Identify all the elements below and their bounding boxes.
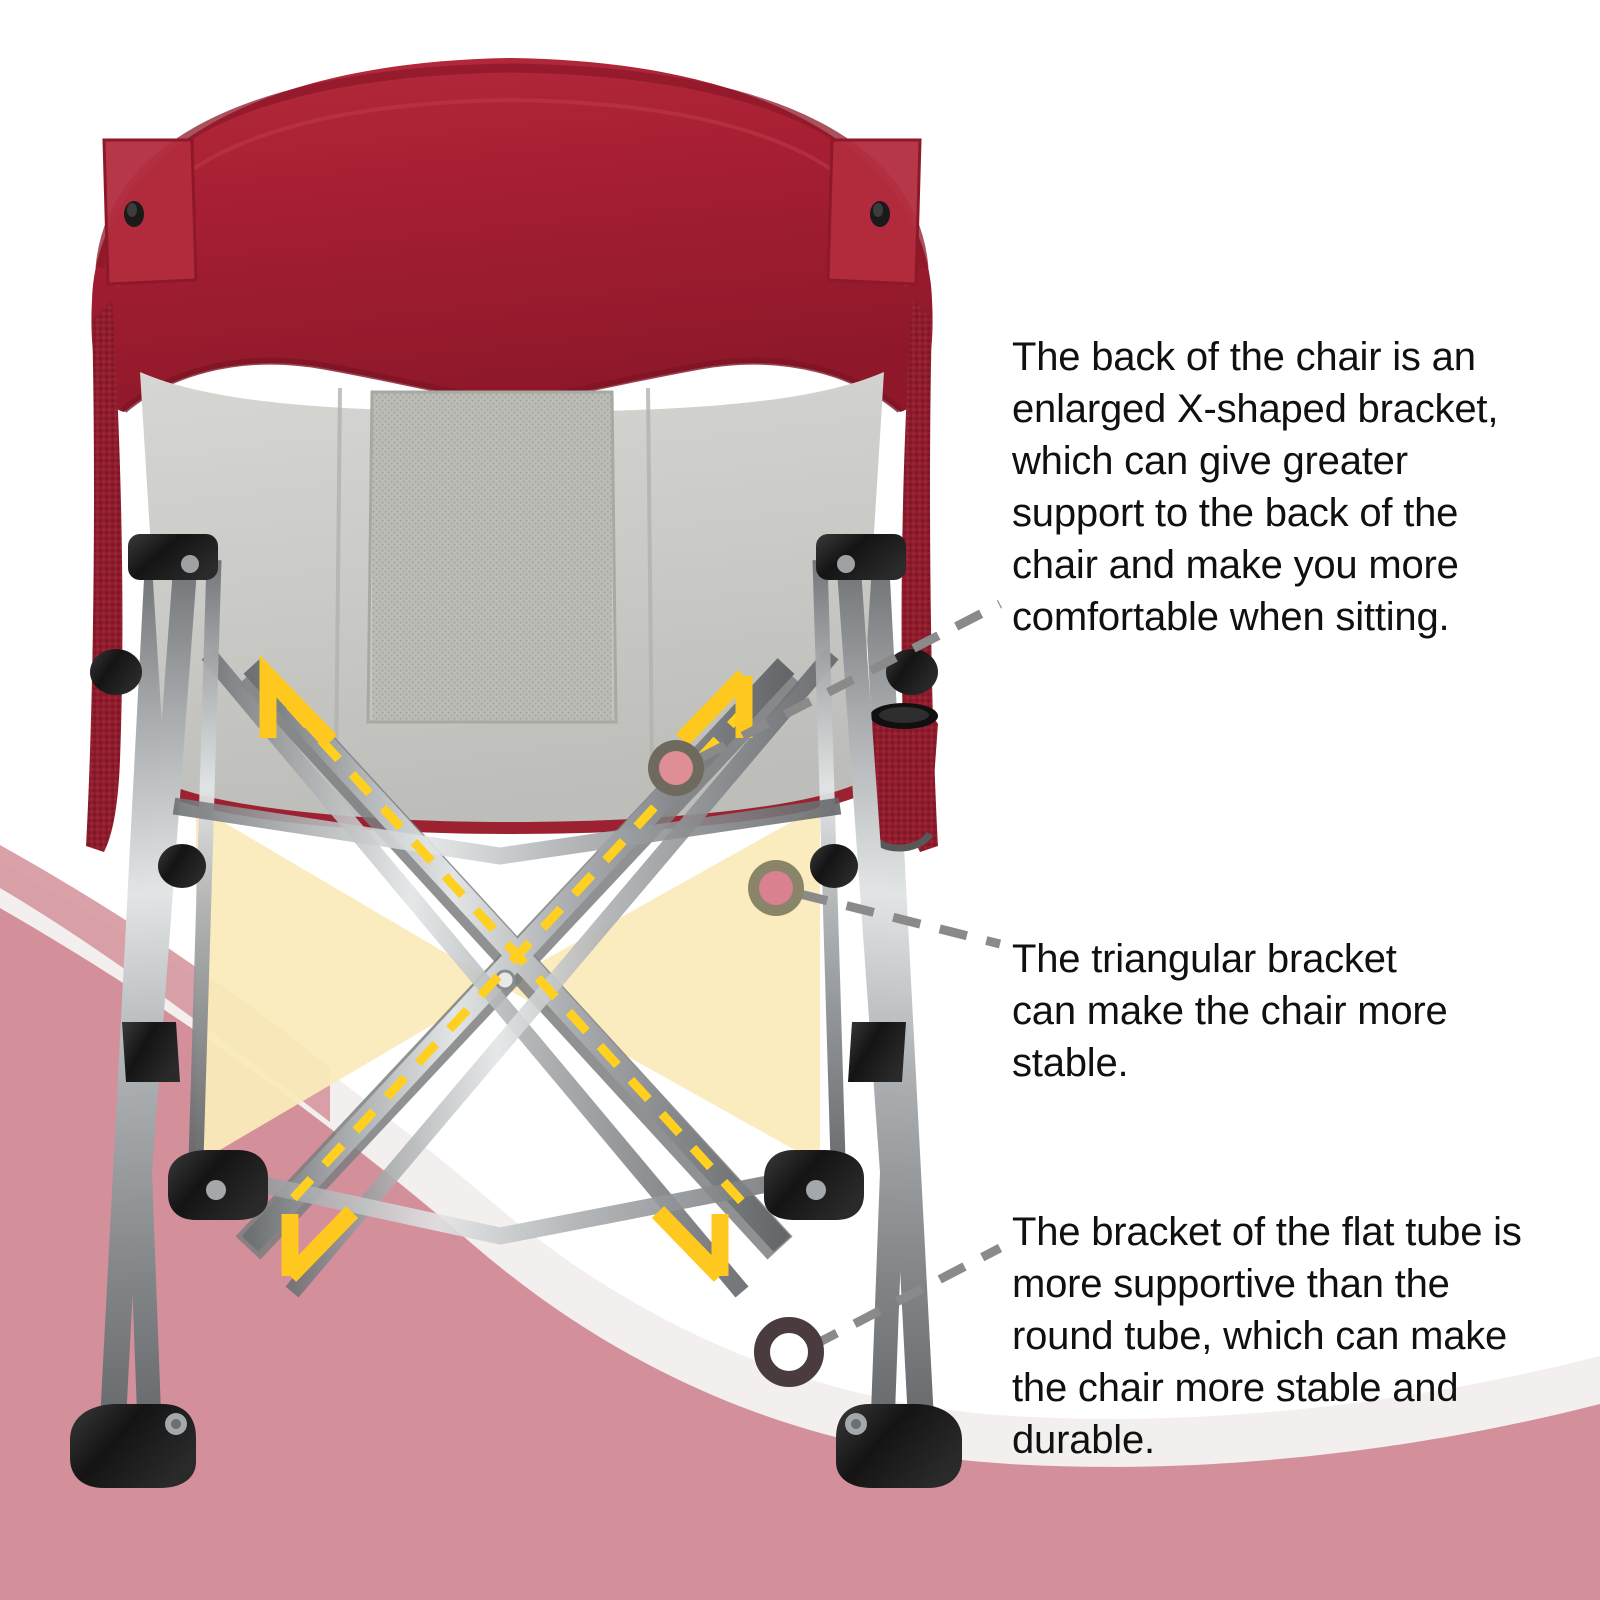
- callout-flat-tube-text: The bracket of the flat tube is more sup…: [1012, 1206, 1532, 1466]
- infographic-canvas: The back of the chair is an enlarged X-s…: [0, 0, 1600, 1600]
- marker-flat-tube: [762, 1325, 816, 1379]
- marker-back-bracket: [648, 740, 704, 796]
- leader-line-3: [812, 1248, 1000, 1346]
- marker-triangular-bracket: [748, 860, 804, 916]
- callout-triangular-bracket-text: The triangular bracket can make the chai…: [1012, 933, 1462, 1089]
- callout-back-bracket-text: The back of the chair is an enlarged X-s…: [1012, 331, 1522, 643]
- callout-markers: [648, 740, 816, 1379]
- leader-line-2: [800, 894, 1000, 944]
